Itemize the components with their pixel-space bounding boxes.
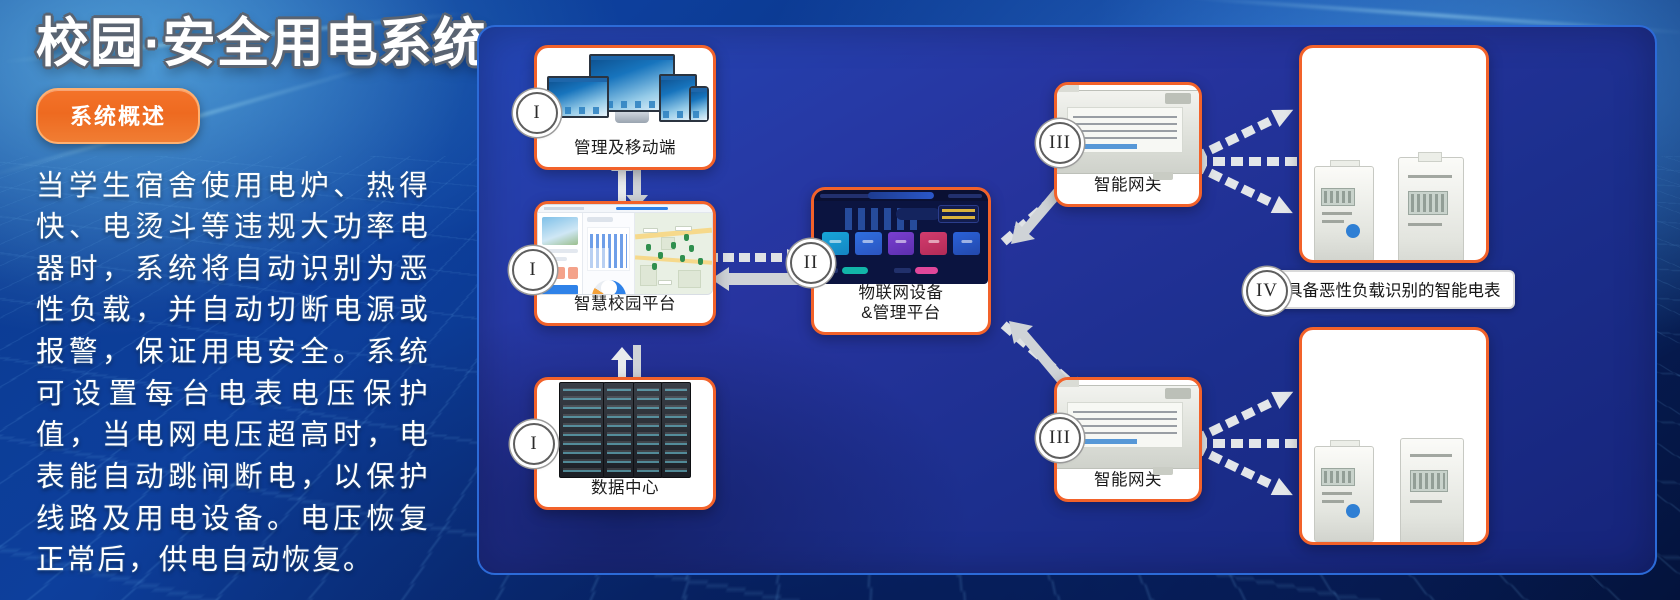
badge-gateway-bottom: III [1039, 417, 1081, 459]
dashboard-map-screenshot-icon [537, 204, 713, 295]
multi-screen-devices-icon [537, 48, 713, 139]
node-caption: 智能网关 [1057, 471, 1199, 499]
poster-canvas: 校园·安全用电系统 系统概述 当学生宿舍使用电炉、热得快、电烫斗等违规大功率电器… [0, 0, 1680, 600]
meter-group-label-text: 具备恶性负载识别的智能电表 [1286, 282, 1501, 300]
badge-smart-meter-group: IV [1246, 270, 1288, 312]
node-admin-mobile[interactable]: 管理及移动端 [534, 45, 716, 170]
intro-column: 校园·安全用电系统 系统概述 当学生宿舍使用电炉、热得快、电烫斗等违规大功率电器… [0, 0, 470, 600]
smart-meter-group-label: 具备恶性负载识别的智能电表 [1254, 270, 1515, 309]
badge-data-center: I [513, 423, 555, 465]
section-badge-system-overview: 系统概述 [36, 88, 200, 144]
server-rack-icon [537, 380, 713, 479]
gateway-device-icon [1057, 85, 1199, 176]
architecture-diagram-panel: 管理及移动端 I [477, 25, 1657, 575]
system-overview-paragraph: 当学生宿舍使用电炉、热得快、电烫斗等违规大功率电器时，系统将自动识别为恶性负载，… [36, 166, 430, 582]
node-iot-platform[interactable]: 物联网设备 &管理平台 [811, 187, 991, 335]
node-caption: 智慧校园平台 [537, 295, 713, 323]
iot-dark-dashboard-icon [814, 190, 988, 284]
page-title: 校园·安全用电系统 [36, 16, 446, 72]
node-caption: 管理及移动端 [537, 139, 713, 167]
meter-panel-top[interactable] [1299, 45, 1489, 263]
node-caption: 物联网设备 &管理平台 [814, 284, 988, 332]
node-caption: 数据中心 [537, 479, 713, 507]
node-smart-campus[interactable]: 智慧校园平台 [534, 201, 716, 326]
badge-iot-platform: II [790, 242, 832, 284]
node-caption: 智能网关 [1057, 176, 1199, 204]
gateway-device-icon [1057, 380, 1199, 471]
badge-gateway-top: III [1039, 122, 1081, 164]
node-data-center[interactable]: 数据中心 [534, 377, 716, 510]
meter-panel-bottom[interactable] [1299, 327, 1489, 545]
badge-admin-mobile: I [516, 92, 558, 134]
badge-smart-campus: I [512, 249, 554, 291]
